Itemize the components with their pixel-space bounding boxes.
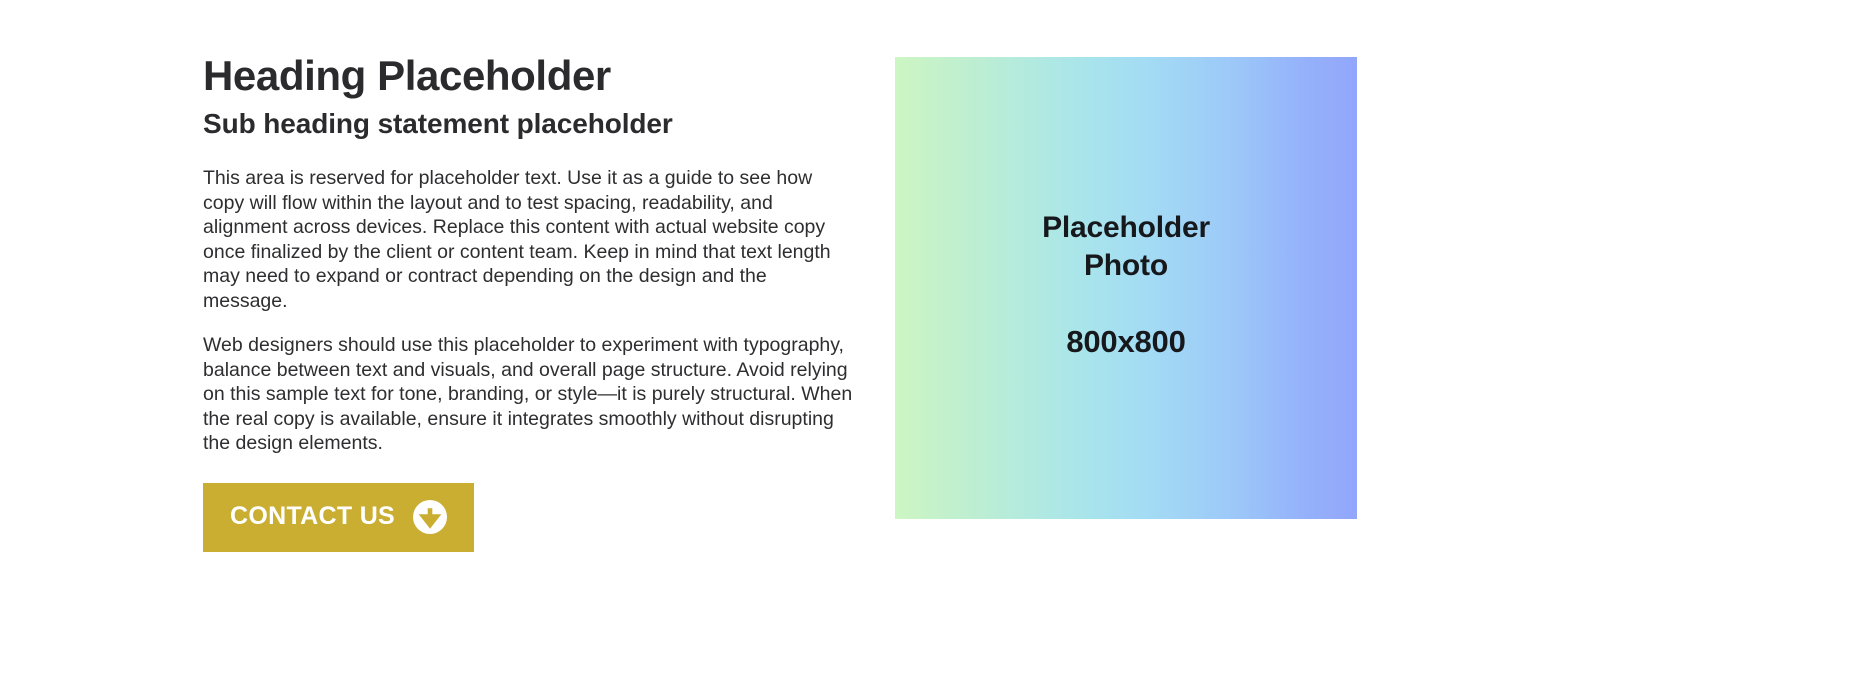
body-paragraph-2: Web designers should use this placeholde… <box>203 333 855 456</box>
contact-us-button-label: CONTACT US <box>230 504 395 529</box>
hero-section: Heading Placeholder Sub heading statemen… <box>0 0 1854 686</box>
placeholder-photo: Placeholder Photo 800x800 <box>895 57 1357 519</box>
placeholder-photo-dimensions: 800x800 <box>1066 324 1185 360</box>
placeholder-photo-label-line2: Photo <box>1084 249 1168 282</box>
placeholder-photo-label-line1: Placeholder <box>1042 211 1210 244</box>
hero-text-column: Heading Placeholder Sub heading statemen… <box>203 52 863 552</box>
page-subtitle: Sub heading statement placeholder <box>203 107 863 141</box>
page-title: Heading Placeholder <box>203 52 863 101</box>
body-paragraph-1: This area is reserved for placeholder te… <box>203 166 851 313</box>
arrow-down-circle-icon <box>413 500 447 534</box>
cta-container: CONTACT US <box>203 483 863 552</box>
contact-us-button[interactable]: CONTACT US <box>203 483 474 552</box>
placeholder-photo-label: Placeholder Photo <box>1042 209 1210 285</box>
